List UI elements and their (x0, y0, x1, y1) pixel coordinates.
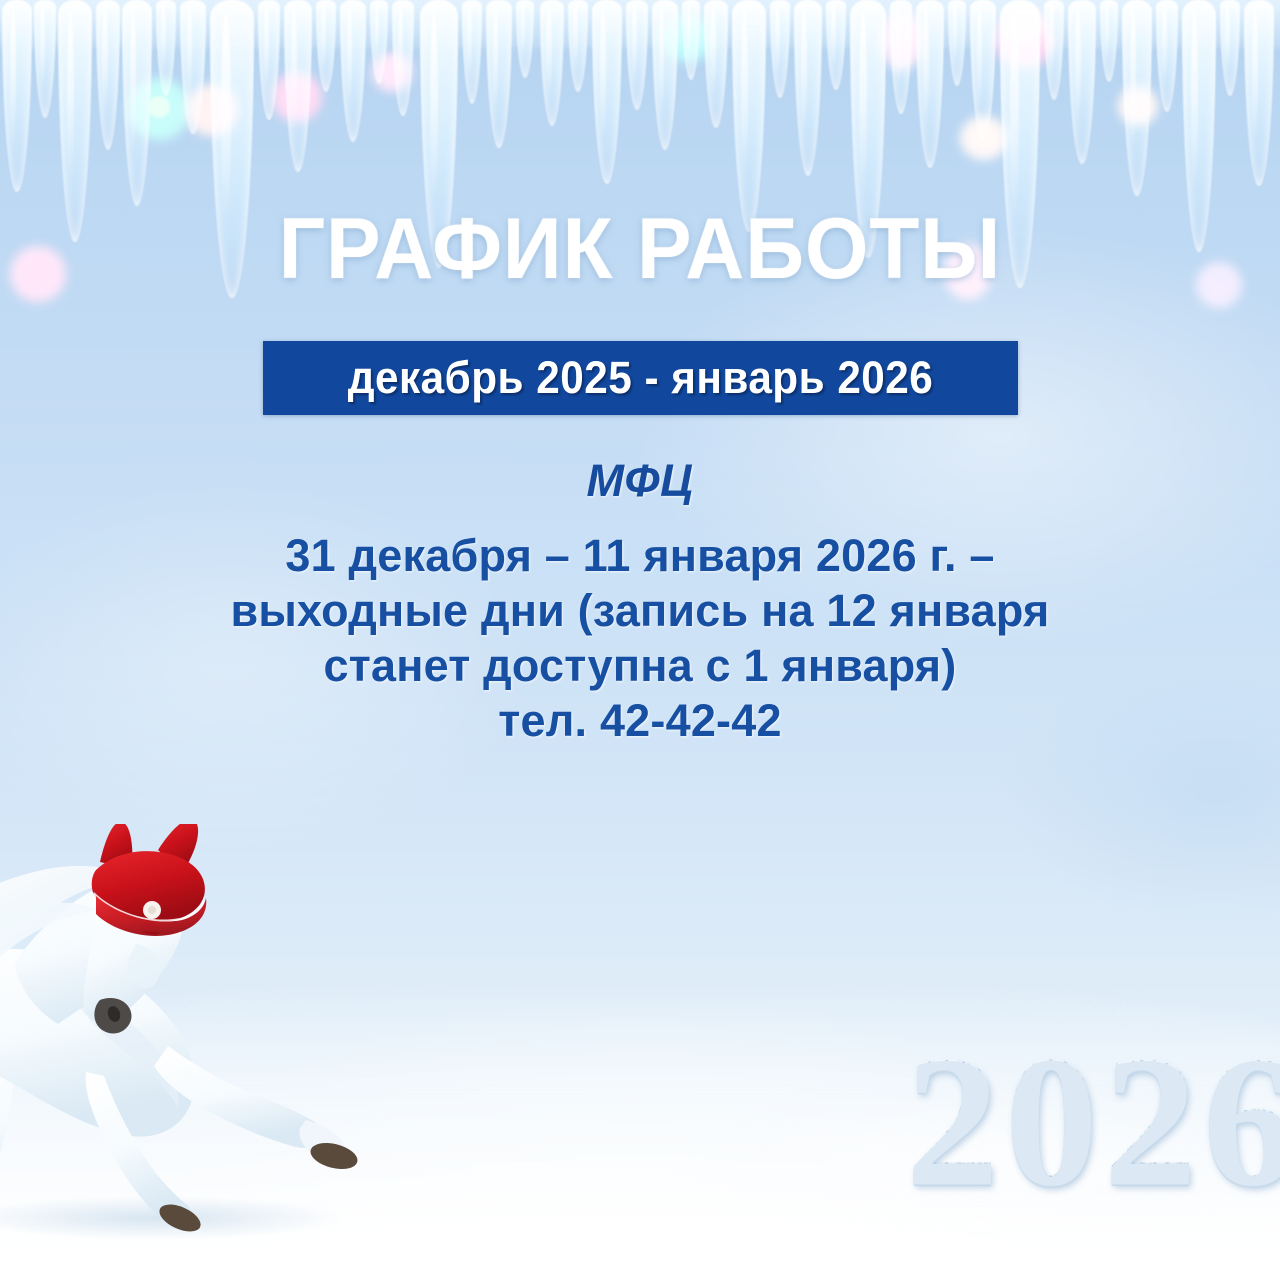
year-graphic: 2026 (906, 1028, 1280, 1214)
icicle (96, 0, 120, 150)
notice-text: 31 декабря – 11 января 2026 г. – выходны… (0, 528, 1280, 748)
period-banner: декабрь 2025 - январь 2026 (263, 341, 1018, 415)
light-teal-icon (660, 14, 714, 62)
ice-ledge (0, 0, 1280, 48)
icicle (592, 0, 622, 184)
icicle (948, 0, 966, 86)
icicle (516, 0, 534, 78)
icicle (970, 0, 996, 140)
icicle (340, 0, 366, 142)
light-amber-2-icon (1118, 86, 1158, 126)
icicle (652, 0, 678, 150)
year-graphic-label: 2026 (906, 1018, 1280, 1224)
icicle (770, 0, 790, 98)
icicle (1244, 0, 1274, 186)
icicle (392, 0, 414, 116)
organization-name: МФЦ (0, 455, 1280, 507)
icicle (916, 0, 944, 168)
icicle (890, 0, 912, 114)
page-title: ГРАФИК РАБОТЫ (32, 206, 1248, 292)
icicle (122, 0, 152, 206)
icicle (682, 0, 700, 80)
notice-line: выходные дни (запись на 12 января (0, 583, 1280, 638)
notice-line: 31 декабря – 11 января 2026 г. – (0, 528, 1280, 583)
icicle (626, 0, 648, 110)
icicle (316, 0, 336, 92)
icicle (1156, 0, 1178, 112)
light-red-2-icon (994, 12, 1054, 68)
icicle (732, 0, 766, 232)
icicle (258, 0, 280, 120)
period-banner-label: декабрь 2025 - январь 2026 (348, 352, 934, 404)
icicle (284, 0, 312, 172)
icicle (794, 0, 822, 176)
icicle (568, 0, 588, 92)
icicle (1044, 0, 1064, 100)
poster-canvas: ГРАФИК РАБОТЫ декабрь 2025 - январь 2026… (0, 0, 1280, 1280)
icicle (180, 0, 206, 134)
icicle (540, 0, 564, 126)
icicle (1100, 0, 1118, 82)
icicle (826, 0, 846, 90)
light-green-icon (128, 78, 190, 140)
icicle (1068, 0, 1096, 164)
light-pink-3-icon (880, 10, 924, 70)
icicle (34, 0, 56, 118)
icicle (1220, 0, 1240, 96)
white-horse-illustration (0, 824, 454, 1244)
icicle (704, 0, 728, 128)
icicle (2, 0, 32, 192)
notice-line: тел. 42-42-42 (0, 693, 1280, 748)
light-pink-icon (372, 52, 412, 92)
light-orange-icon (186, 84, 238, 136)
light-amber-icon (1002, 6, 1044, 40)
icicle (1122, 0, 1152, 196)
light-yellow-icon (960, 116, 1008, 160)
icicle (486, 0, 512, 148)
light-red-icon (272, 72, 322, 122)
icicle (156, 0, 176, 96)
icicle (370, 0, 388, 84)
icicle (462, 0, 482, 104)
light-green-core-icon (148, 96, 170, 118)
notice-line: станет доступна с 1 января) (0, 638, 1280, 693)
